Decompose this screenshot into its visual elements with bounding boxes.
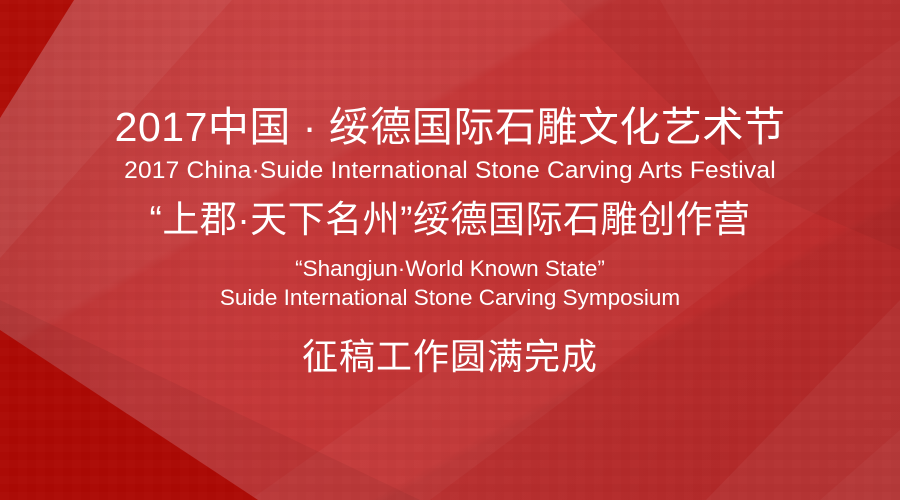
- status-message-chinese: 征稿工作圆满完成: [302, 334, 598, 380]
- festival-title-chinese: 2017中国 · 绥德国际石雕文化艺术节: [115, 102, 786, 152]
- symposium-title-chinese: “上郡·天下名州”绥德国际石雕创作营: [150, 197, 751, 243]
- symposium-slogan-english: “Shangjun·World Known State”: [295, 254, 605, 283]
- banner-text-block: 2017中国 · 绥德国际石雕文化艺术节 2017 China·Suide In…: [0, 0, 900, 500]
- festival-title-english: 2017 China·Suide International Stone Car…: [124, 156, 776, 186]
- promotional-banner: 2017中国 · 绥德国际石雕文化艺术节 2017 China·Suide In…: [0, 0, 900, 500]
- symposium-title-english: Suide International Stone Carving Sympos…: [220, 283, 680, 312]
